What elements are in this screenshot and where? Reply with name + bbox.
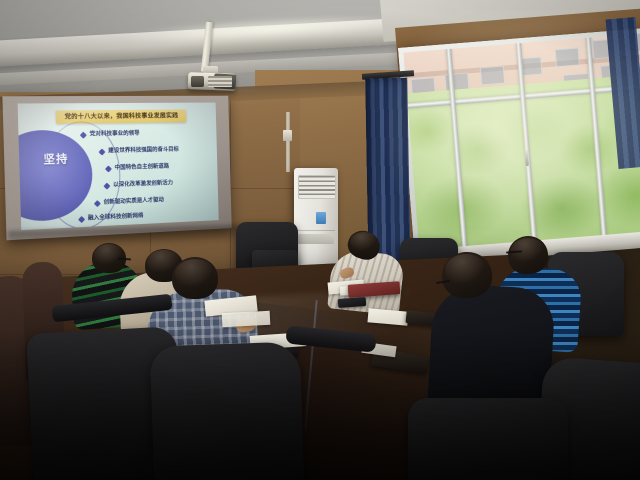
bullet-marker-icon bbox=[99, 149, 105, 155]
slide-bullet-text: 建设世界科技强国的奋斗目标 bbox=[108, 147, 179, 156]
hair-highlight bbox=[94, 244, 124, 266]
slide-bullet-text: 创新驱动实质是人才驱动 bbox=[104, 197, 164, 207]
ac-control-panel[interactable] bbox=[298, 234, 334, 244]
ac-seam bbox=[297, 230, 335, 231]
slide-bullet: 创新驱动实质是人才驱动 bbox=[95, 197, 164, 207]
window-frame bbox=[398, 28, 640, 259]
slide-bullet: 融入全球科技创新网络 bbox=[79, 213, 143, 223]
bullet-marker-icon bbox=[94, 200, 100, 206]
bullet-marker-icon bbox=[104, 183, 110, 189]
wall-switch-icon[interactable] bbox=[283, 130, 292, 141]
bullet-marker-icon bbox=[80, 132, 86, 138]
slide-bullet-text: 党对科技事业的领导 bbox=[90, 131, 140, 139]
bullet-marker-icon bbox=[78, 216, 84, 222]
projection-screen: 党的十八大以来，我国科技事业发展实践 坚持 党对科技事业的领导 建设世界科技强国… bbox=[2, 96, 231, 241]
ac-energy-label bbox=[316, 212, 326, 224]
window bbox=[398, 28, 640, 259]
projected-slide: 党的十八大以来，我国科技事业发展实践 坚持 党对科技事业的领导 建设世界科技强国… bbox=[18, 103, 219, 231]
meeting-room-photo: 党的十八大以来，我国科技事业发展实践 坚持 党对科技事业的领导 建设世界科技强国… bbox=[0, 0, 640, 480]
hair-highlight bbox=[350, 232, 378, 252]
ac-grille-icon bbox=[298, 175, 336, 199]
slide-bullet-text: 融入全球科技创新网络 bbox=[88, 213, 144, 223]
hair-highlight bbox=[175, 259, 215, 289]
bullet-marker-icon bbox=[105, 166, 111, 172]
chair-foreground-right-2[interactable] bbox=[408, 398, 568, 480]
hair-highlight bbox=[445, 254, 487, 286]
ac-conduit-pipe bbox=[286, 112, 290, 172]
document-paper bbox=[222, 311, 271, 327]
slide-bullet: 建设世界科技强国的奋斗目标 bbox=[100, 147, 179, 156]
mobile-phone[interactable] bbox=[338, 297, 367, 308]
projector-lens-icon bbox=[191, 76, 204, 87]
slide-bullet-text: 中国特色自主创新道路 bbox=[115, 164, 170, 173]
slide-bullet-text: 以深化改革激发创新活力 bbox=[113, 180, 173, 189]
slide-circle-label: 坚持 bbox=[40, 152, 71, 166]
slide-bullet: 以深化改革激发创新活力 bbox=[105, 180, 173, 189]
slide-bullet: 中国特色自主创新道路 bbox=[106, 164, 169, 173]
slide-bullet: 党对科技事业的领导 bbox=[81, 131, 140, 139]
chair-foreground-plaid-person[interactable] bbox=[150, 341, 305, 480]
projector-vent bbox=[208, 76, 232, 87]
